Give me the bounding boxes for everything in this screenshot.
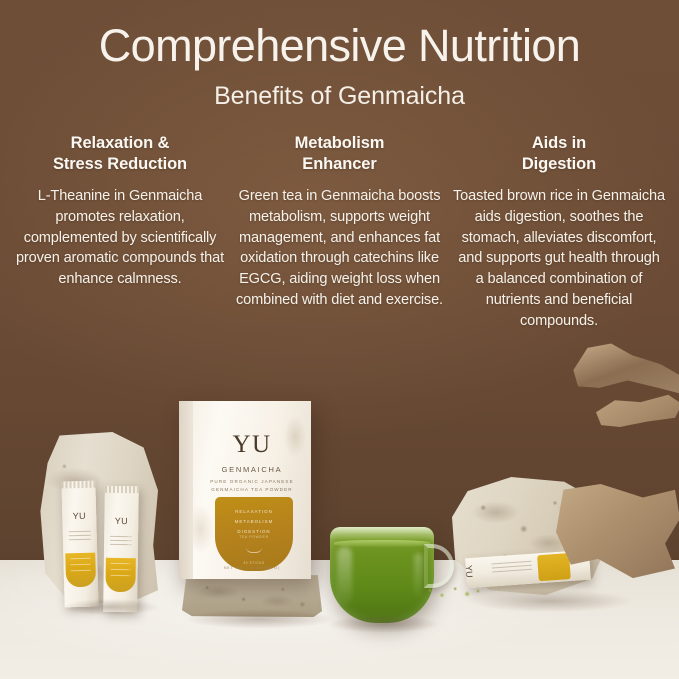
tea-foam (334, 540, 430, 547)
sachet-text-lines (492, 561, 533, 576)
travertine-slab-left (38, 432, 158, 604)
sachet-gold-panel (65, 553, 96, 588)
shield-emblem-icon (246, 547, 262, 553)
text-panel: Comprehensive Nutrition Benefits of Genm… (0, 0, 679, 360)
shield-subtitle: TEA POWDER (215, 535, 293, 539)
benefit-body: Toasted brown rice in Genmaicha aids dig… (453, 186, 665, 331)
benefit-body: L-Theanine in Genmaicha promotes relaxat… (14, 186, 226, 290)
shield-benefit-list: RELAXATION METABOLISM DIGESTION (215, 507, 293, 537)
sachet-gold-panel (537, 553, 571, 581)
benefit-heading: Metabolism Enhancer (234, 133, 446, 175)
sachet-text-lines (110, 536, 132, 548)
shield-count: 30 STICKS (215, 561, 293, 565)
benefit-column-metabolism: Metabolism Enhancer Green tea in Genmaic… (234, 133, 446, 331)
box-gold-shield: RELAXATION METABOLISM DIGESTION TEA POWD… (215, 497, 293, 571)
glass-highlight-left (337, 547, 352, 605)
product-box: YU GENMAICHA PURE ORGANIC JAPANESE GENMA… (179, 401, 311, 579)
page-subtitle: Benefits of Genmaicha (0, 82, 679, 111)
sachet-logo: YU (104, 516, 138, 526)
sachet-tear-notch (61, 481, 95, 489)
benefit-column-digestion: Aids in Digestion Toasted brown rice in … (453, 133, 665, 331)
sachet-logo: YU (465, 565, 474, 578)
box-brand-logo: YU (193, 431, 311, 459)
benefit-column-relaxation: Relaxation & Stress Reduction L-Theanine… (14, 133, 226, 331)
benefit-heading: Aids in Digestion (453, 133, 665, 175)
benefits-row: Relaxation & Stress Reduction L-Theanine… (0, 133, 679, 331)
sachet-gold-panel (105, 558, 135, 592)
box-product-name: GENMAICHA (193, 465, 311, 474)
box-product-description: PURE ORGANIC JAPANESE GENMAICHA TEA POWD… (193, 478, 311, 494)
sachet-logo: YU (62, 511, 96, 522)
mug-rim (330, 527, 434, 540)
glass-highlight-right (414, 553, 423, 597)
benefit-heading: Relaxation & Stress Reduction (14, 133, 226, 175)
matcha-crumbs (424, 584, 484, 600)
tea-sachet-standing-2: YU (103, 486, 139, 612)
sachet-tear-notch (105, 486, 139, 493)
tea-sachet-standing-1: YU (61, 481, 98, 608)
box-left-side-panel (179, 401, 193, 579)
sachet-text-lines (69, 531, 91, 544)
shadow-sachets (46, 596, 176, 618)
benefit-body: Green tea in Genmaicha boosts metabolism… (234, 186, 446, 310)
infographic-root: YU YU YU GENMAICHA PURE ORGANIC JAPANESE… (0, 0, 679, 679)
page-title: Comprehensive Nutrition (0, 22, 679, 69)
box-net-weight: NET WT. 1.6 OZ (45 G) (193, 566, 311, 570)
